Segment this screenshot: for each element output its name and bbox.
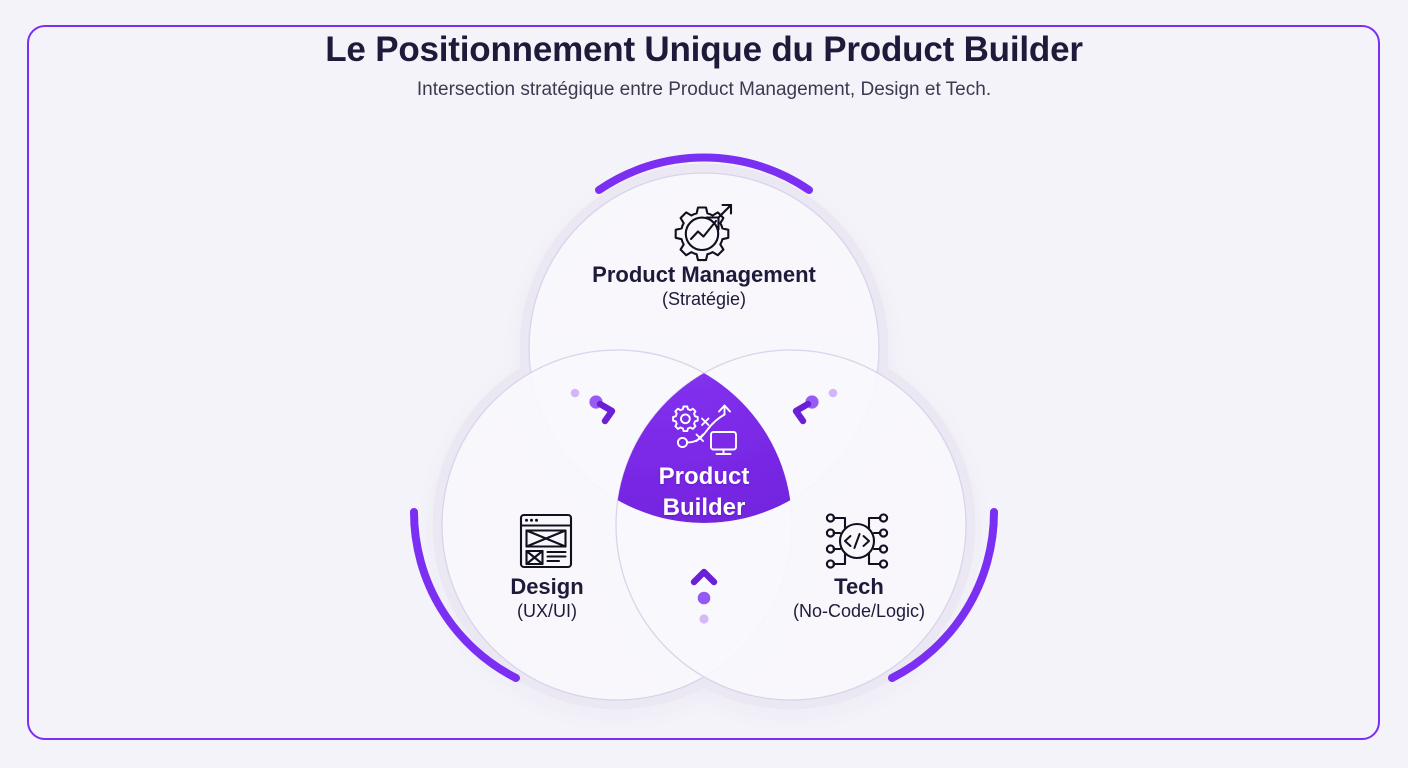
connector-dot-small bbox=[571, 389, 580, 398]
connector-dot-large bbox=[698, 592, 711, 605]
connector-dot-small bbox=[829, 389, 838, 398]
connector-dot-small bbox=[699, 614, 708, 623]
venn-diagram bbox=[0, 0, 1408, 768]
